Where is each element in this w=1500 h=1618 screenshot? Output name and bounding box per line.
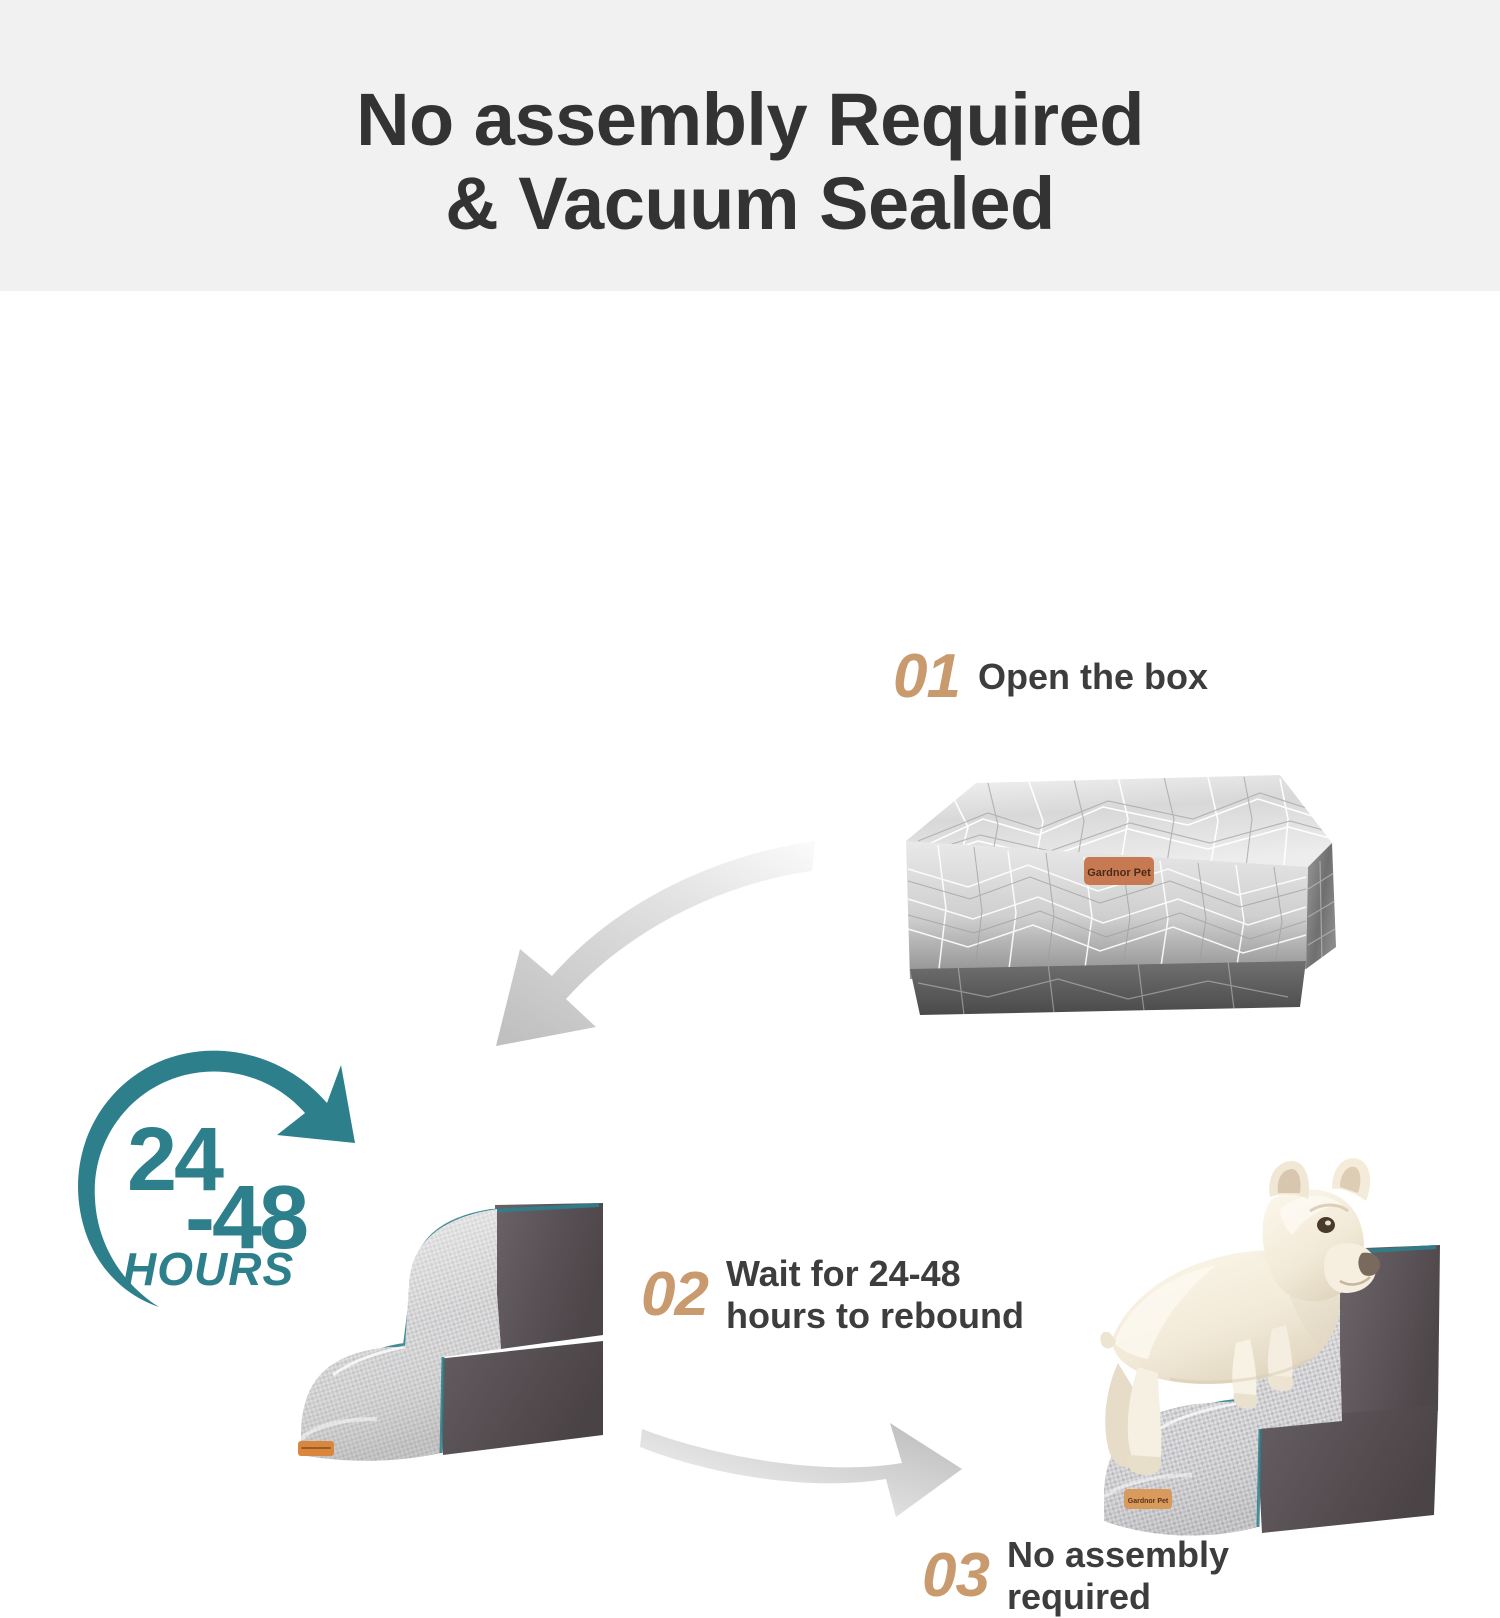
step-01-number: 01	[893, 646, 960, 708]
step-03-text: No assembly required	[1007, 1534, 1229, 1618]
step-02-number: 02	[641, 1264, 708, 1326]
step-02-label: 02 Wait for 24-48 hours to rebound	[641, 1253, 1024, 1337]
stairs-left-brand-tag	[298, 1441, 334, 1456]
pet-stairs-image-left	[205, 1163, 615, 1493]
package-brand-label: Gardnor Pet	[1087, 867, 1151, 879]
arrow-box-to-stairs-icon	[400, 831, 820, 1061]
arrow-stairs-to-dog-icon	[640, 1351, 970, 1526]
step-03-number: 03	[922, 1545, 989, 1607]
vacuum-sealed-package-image: Gardnor Pet	[888, 769, 1348, 1031]
stairs-right-brand-label: Gardnor Pet	[1128, 1498, 1169, 1505]
pet-stairs-with-dog-image: Gardnor Pet	[1040, 1153, 1460, 1553]
header-band: No assembly Required & Vacuum Sealed	[0, 0, 1500, 291]
stairs-right-brand-tag: Gardnor Pet	[1124, 1489, 1172, 1509]
step-01-text: Open the box	[978, 656, 1208, 698]
package-brand-tag: Gardnor Pet	[1084, 857, 1154, 885]
infographic-stage: 01 Open the box	[0, 291, 1500, 1323]
step-02-text: Wait for 24-48 hours to rebound	[726, 1253, 1024, 1337]
step-01-label: 01 Open the box	[893, 646, 1208, 708]
step-03-label: 03 No assembly required	[922, 1534, 1229, 1618]
page-title: No assembly Required & Vacuum Sealed	[0, 78, 1500, 246]
